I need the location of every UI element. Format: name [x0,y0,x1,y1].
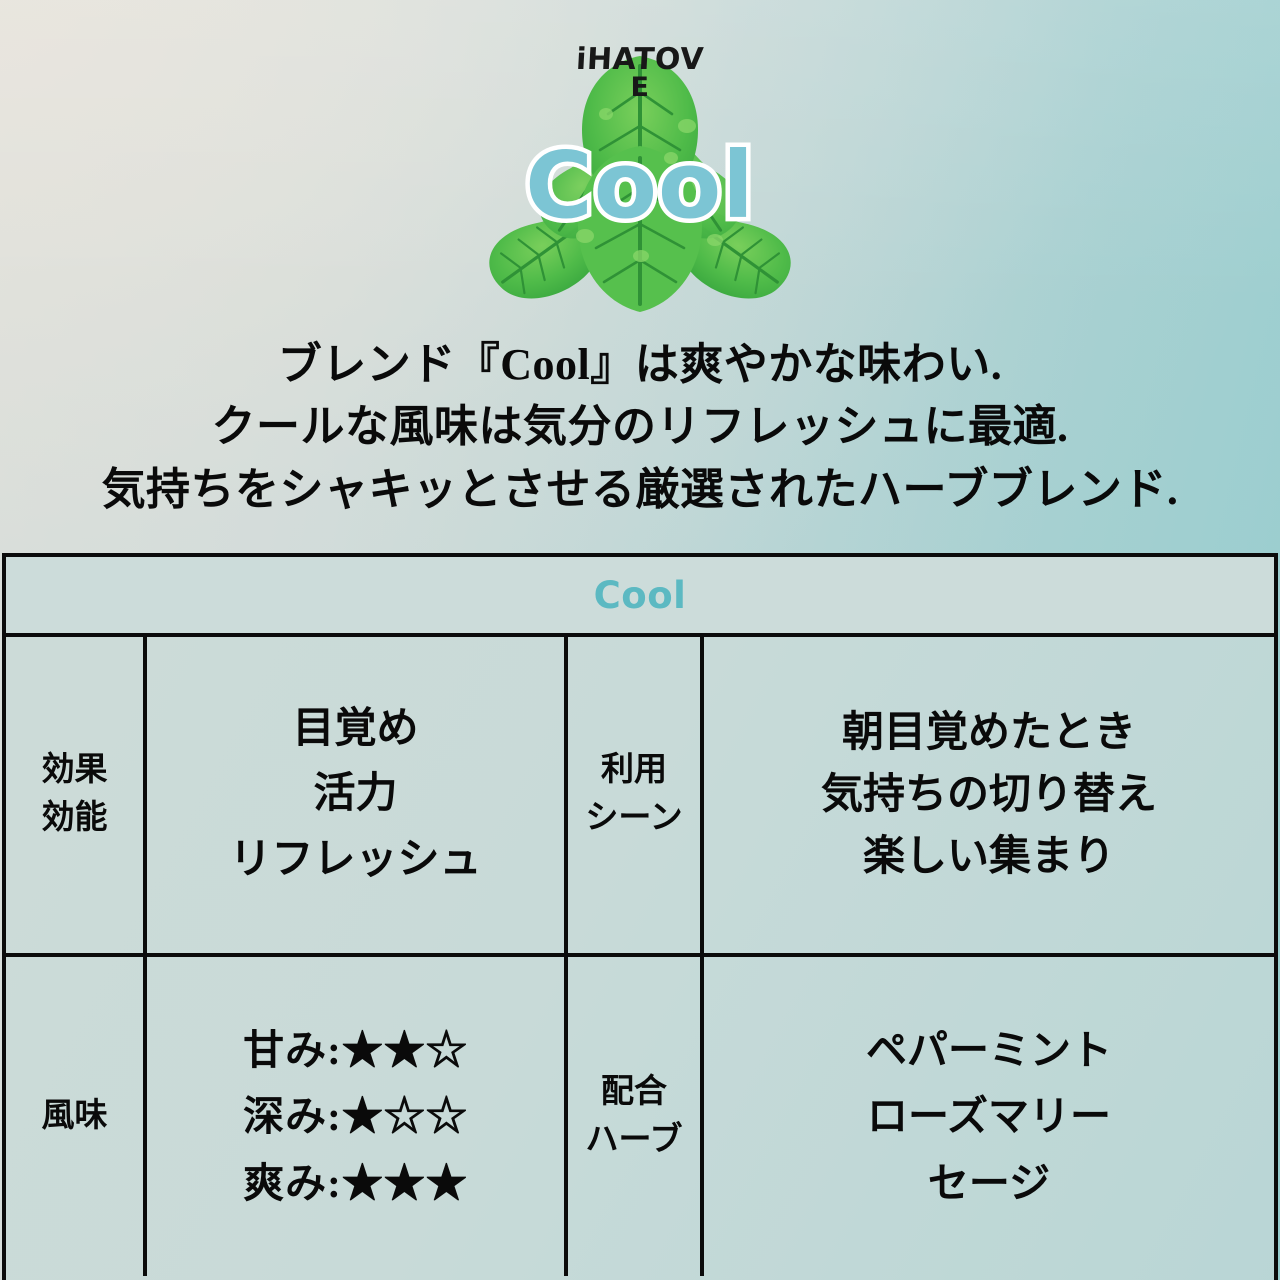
hero-banner: iHATOV E Cool [0,0,1280,330]
row1-label-effect: 効果 効能 [6,637,147,953]
spec-table: Cool 効果 効能 目覚め 活力 リフレッシュ 利用 シーン [2,553,1278,1280]
wordmark-line-1: iHATOV [474,46,805,74]
row1-scene-item-2: 気持ちの切り替え [821,764,1157,826]
row2-value-herbs: ペパーミント ローズマリー セージ [704,957,1274,1276]
table-header-row: Cool [6,557,1274,637]
flavor-rating-sweetness: 甘み:★★☆ [243,1017,468,1083]
row1-label-scene-line1: 利用 [585,747,682,795]
product-logo-text: Cool [475,140,805,232]
row1-scene-item-3: 楽しい集まり [821,826,1157,888]
herb-item-3: セージ [866,1150,1112,1216]
row1-label-scene: 利用 シーン [568,637,704,953]
row1-effect-item-1: 目覚め [229,697,481,762]
description-line-2: クールな風味は気分のリフレッシュに最適. [0,396,1280,458]
row1-effect-item-2: 活力 [229,762,481,827]
row1-effect-item-3: リフレッシュ [229,828,481,893]
brand-logo: iHATOV E Cool [475,18,805,318]
table-row: 効果 効能 目覚め 活力 リフレッシュ 利用 シーン 朝目覚めたとき [6,637,1274,957]
description-line-3: 気持ちをシャキッとさせる厳選されたハーブブレンド. [0,459,1280,521]
herb-item-2: ローズマリー [866,1083,1112,1149]
table-row: 風味 甘み:★★☆ 深み:★☆☆ 爽み:★★★ 配合 ハーブ ペパーミント [6,957,1274,1276]
row1-label-effect-line2: 効能 [42,795,108,843]
description-line-1: ブレンド『Cool』は爽やかな味わい. [0,334,1280,396]
flavor-rating-freshness: 爽み:★★★ [243,1150,468,1216]
wordmark-line-2: E [475,76,805,101]
product-description: ブレンド『Cool』は爽やかな味わい. クールな風味は気分のリフレッシュに最適.… [0,334,1280,521]
table-header-title: Cool [594,574,687,617]
row1-label-scene-line2: シーン [585,795,682,843]
flavor-rating-depth: 深み:★☆☆ [243,1083,468,1149]
row1-scene-item-1: 朝目覚めたとき [821,702,1157,764]
row1-value-scene: 朝目覚めたとき 気持ちの切り替え 楽しい集まり [704,637,1274,953]
table-body: Cool 効果 効能 目覚め 活力 リフレッシュ 利用 シーン [6,557,1274,1276]
row1-label-effect-line1: 効果 [42,747,108,795]
row2-label-herbs: 配合 ハーブ [568,957,704,1276]
row2-label-flavor: 風味 [6,957,147,1276]
row1-value-effect: 目覚め 活力 リフレッシュ [147,637,568,953]
row2-label-flavor-line1: 風味 [42,1093,108,1141]
brand-wordmark: iHATOV E [475,46,805,100]
herb-item-1: ペパーミント [866,1017,1112,1083]
row2-label-herbs-line1: 配合 [585,1069,682,1117]
row2-label-herbs-line2: ハーブ [585,1117,682,1165]
row2-value-flavor-ratings: 甘み:★★☆ 深み:★☆☆ 爽み:★★★ [147,957,568,1276]
